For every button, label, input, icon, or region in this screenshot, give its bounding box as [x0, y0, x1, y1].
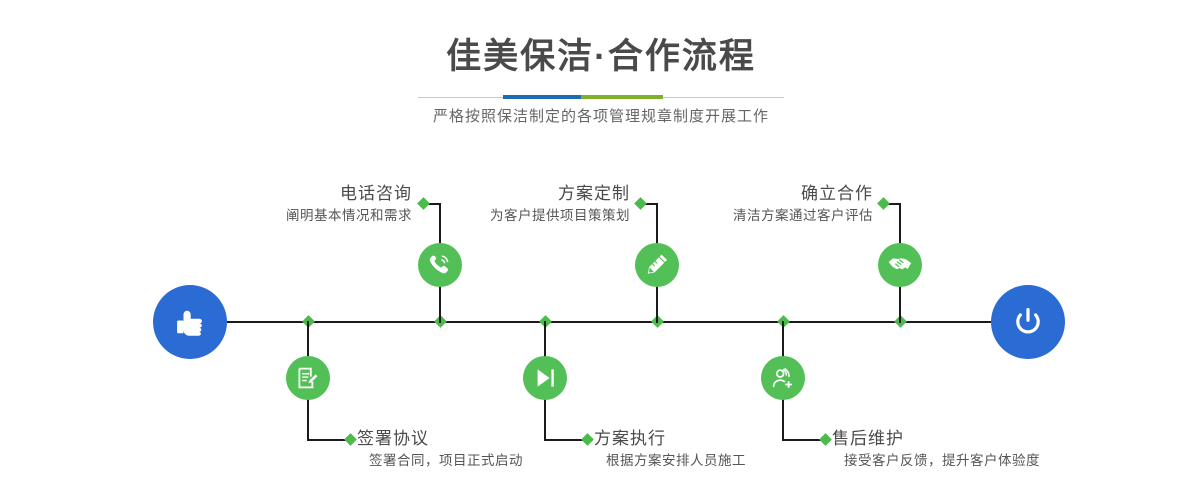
pointing-hand-icon: [170, 302, 210, 342]
step-1-icon-bubble[interactable]: [418, 243, 462, 287]
step-5-desc: 清洁方案通过客户评估: [611, 205, 873, 227]
step-4-leg: [544, 439, 586, 441]
timeline-end-node[interactable]: [991, 285, 1065, 359]
contract-document-icon: [295, 365, 321, 391]
step-6-label: 售后维护 接受客户反馈，提升客户体验度: [832, 428, 1102, 472]
step-4-desc: 根据方案安排人员施工: [594, 450, 854, 472]
step-3-icon-bubble[interactable]: [635, 243, 679, 287]
page-title: 佳美保洁·合作流程: [0, 0, 1202, 78]
customer-support-add-icon: [770, 365, 796, 391]
step-4-icon-bubble[interactable]: [523, 356, 567, 400]
play-next-icon: [532, 365, 558, 391]
step-5-icon-bubble[interactable]: [878, 243, 922, 287]
step-2-diamond: [344, 433, 357, 446]
timeline-start-node[interactable]: [153, 285, 227, 359]
step-3-label: 方案定制 为客户提供项目策策划: [368, 183, 630, 227]
step-2-label: 签署协议 签署合同，项目正式启动: [357, 428, 617, 472]
divider-green-segment: [581, 95, 663, 99]
power-icon: [1008, 302, 1048, 342]
title-divider: [418, 97, 784, 98]
step-2-leg: [307, 439, 349, 441]
step-5-diamond: [877, 197, 890, 210]
step-6-leg: [782, 439, 824, 441]
divider-blue-segment: [503, 95, 581, 99]
process-flow-infographic: 佳美保洁·合作流程 严格按照保洁制定的各项管理规章制度开展工作: [0, 0, 1202, 502]
step-5-label: 确立合作 清洁方案通过客户评估: [611, 183, 873, 227]
step-6-desc: 接受客户反馈，提升客户体验度: [832, 450, 1102, 472]
step-5-title: 确立合作: [611, 183, 873, 205]
step-3-desc: 为客户提供项目策策划: [368, 205, 630, 227]
handshake-icon: [886, 251, 914, 279]
pencil-ruler-icon: [644, 252, 670, 278]
step-2-icon-bubble[interactable]: [286, 356, 330, 400]
step-6-title: 售后维护: [832, 428, 1102, 450]
page-subtitle: 严格按照保洁制定的各项管理规章制度开展工作: [0, 105, 1202, 126]
phone-call-icon: [427, 252, 453, 278]
step-6-icon-bubble[interactable]: [761, 356, 805, 400]
header: 佳美保洁·合作流程: [0, 0, 1202, 78]
step-3-title: 方案定制: [368, 183, 630, 205]
step-4-label: 方案执行 根据方案安排人员施工: [594, 428, 854, 472]
step-2-desc: 签署合同，项目正式启动: [357, 450, 617, 472]
